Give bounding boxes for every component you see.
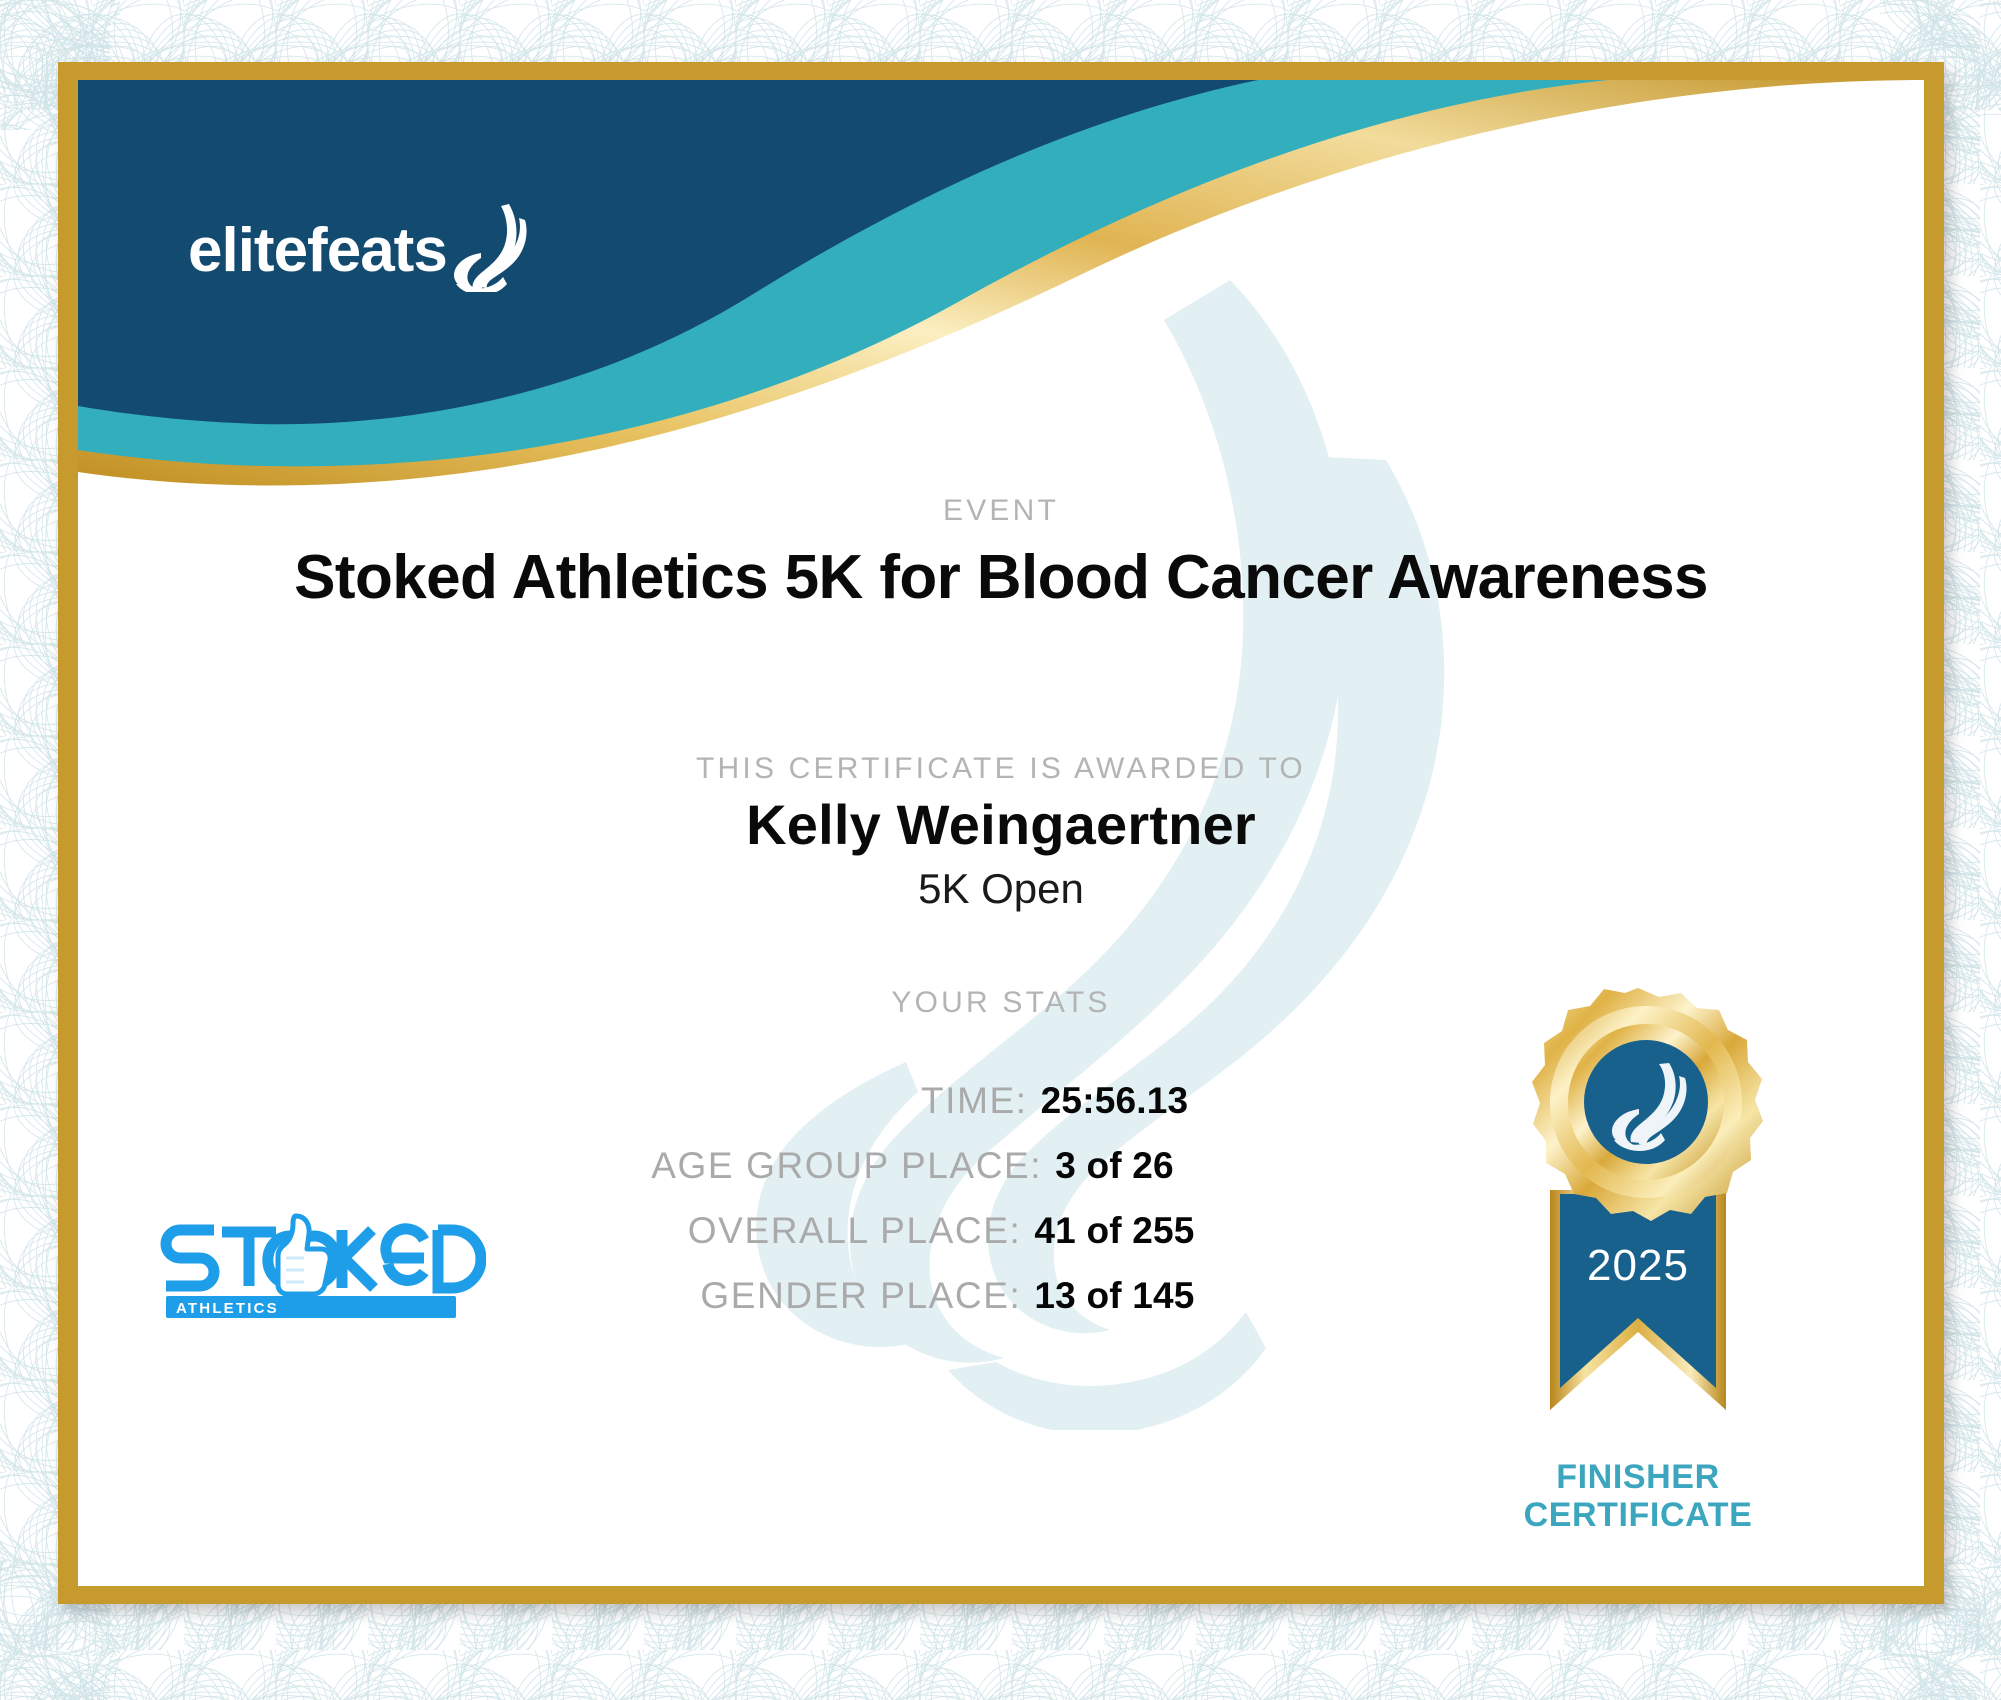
stat-label: GENDER PLACE:	[461, 1275, 1021, 1317]
stats-table: TIME: 25:56.13 AGE GROUP PLACE: 3 of 26 …	[378, 1080, 1278, 1340]
stat-value: 13 of 145	[1034, 1275, 1194, 1317]
event-label: EVENT	[78, 494, 1924, 528]
medal-ribbon	[1550, 1190, 1726, 1410]
elitefeats-logo: elitefeats	[188, 210, 533, 292]
stat-value: 3 of 26	[1055, 1145, 1174, 1187]
certificate-body: elitefeats EVENT Stoked Athletics 5K for…	[78, 80, 1924, 1586]
finisher-caption-line1: FINISHER	[1458, 1458, 1818, 1496]
stat-value: 25:56.13	[1041, 1080, 1189, 1122]
stat-label: TIME:	[468, 1080, 1028, 1122]
division-name: 5K Open	[78, 865, 1924, 913]
finisher-caption-line2: CERTIFICATE	[1458, 1496, 1818, 1534]
stat-row: OVERALL PLACE: 41 of 255	[378, 1210, 1278, 1258]
stat-row: GENDER PLACE: 13 of 145	[378, 1275, 1278, 1323]
stat-value: 41 of 255	[1034, 1210, 1194, 1252]
medal-rosette	[1532, 988, 1763, 1221]
finisher-certificate-caption: FINISHER CERTIFICATE	[1458, 1458, 1818, 1534]
recipient-name: Kelly Weingaertner	[78, 792, 1924, 857]
medal-year: 2025	[1587, 1241, 1689, 1290]
stat-label: OVERALL PLACE:	[461, 1210, 1021, 1252]
certificate-content: EVENT Stoked Athletics 5K for Blood Canc…	[78, 80, 1924, 1586]
finisher-medal-badge: 2025	[1488, 980, 1788, 1450]
stat-row: AGE GROUP PLACE: 3 of 26	[378, 1145, 1278, 1193]
thumbs-up-icon	[278, 1216, 330, 1294]
stoked-athletics-logo: ATHLETICS	[156, 1210, 486, 1330]
certificate-page: elitefeats EVENT Stoked Athletics 5K for…	[0, 0, 2001, 1700]
stat-row: TIME: 25:56.13	[378, 1080, 1278, 1128]
event-name: Stoked Athletics 5K for Blood Cancer Awa…	[78, 542, 1924, 613]
stat-label: AGE GROUP PLACE:	[482, 1145, 1042, 1187]
brand-wordmark: elitefeats	[188, 220, 447, 282]
sponsor-subtitle: ATHLETICS	[176, 1300, 279, 1317]
winged-foot-icon	[451, 200, 533, 292]
awarded-to-label: THIS CERTIFICATE IS AWARDED TO	[78, 752, 1924, 786]
